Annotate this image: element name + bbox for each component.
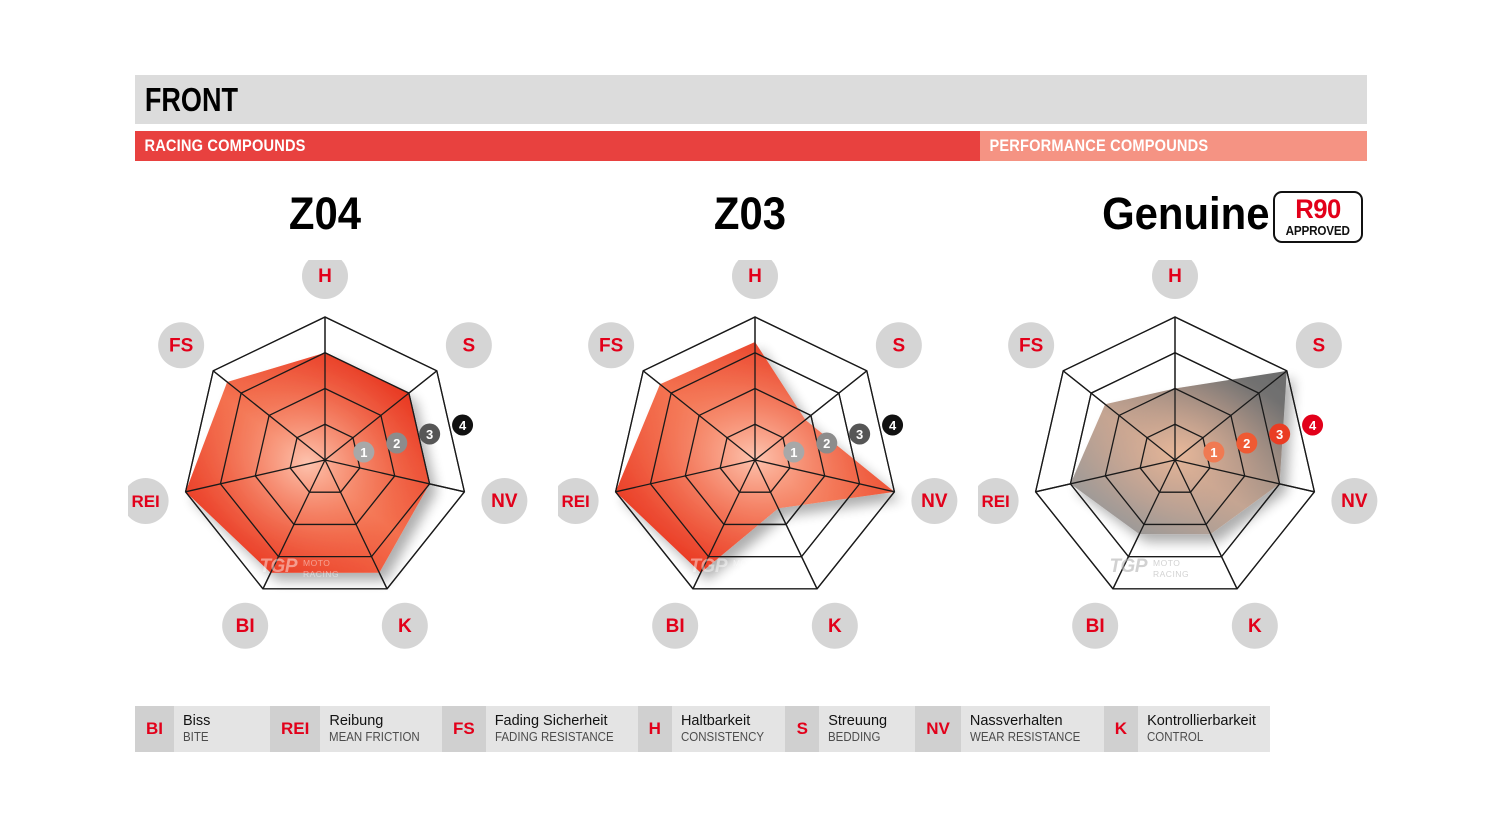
axis-label-FS: FS	[169, 335, 193, 356]
tgp-watermark: TGPMOTORACING	[689, 556, 769, 579]
radar-chart-z03: TGPMOTORACING1234HSNVKBIREIFS	[558, 260, 958, 660]
radar-data-area	[1070, 371, 1286, 534]
axis-label-H: H	[318, 266, 332, 287]
ring-badge-label: 1	[790, 445, 797, 460]
legend-item: NVNassverhaltenWEAR RESISTANCE	[915, 706, 1104, 752]
legend-label-de: Kontrollierbarkeit	[1147, 713, 1256, 729]
legend-label-en: WEAR RESISTANCE	[970, 730, 1080, 745]
legend-item: REIReibungMEAN FRICTION	[270, 706, 442, 752]
ring-badge-label: 4	[889, 418, 897, 433]
ring-badge-label: 4	[1309, 418, 1317, 433]
axis-label-H: H	[748, 266, 762, 287]
chart-title-z04: Z04	[186, 188, 465, 240]
legend-code-nv: NV	[915, 706, 961, 752]
legend-text-block: HaltbarkeitCONSISTENCY	[672, 706, 785, 752]
ring-badge-label: 2	[1243, 436, 1250, 451]
ring-badge-label: 2	[823, 436, 830, 451]
radar-grid-overlay	[616, 317, 895, 589]
legend-code-bi: BI	[135, 706, 174, 752]
axis-label-REI: REI	[981, 492, 1009, 511]
legend-text-block: NassverhaltenWEAR RESISTANCE	[961, 706, 1104, 752]
legend-code-s: S	[785, 706, 819, 752]
legend-label-en: CONTROL	[1147, 730, 1247, 745]
legend-label-en: CONSISTENCY	[681, 730, 764, 745]
svg-text:MOTO: MOTO	[303, 558, 330, 568]
legend-item: FSFading SicherheitFADING RESISTANCE	[442, 706, 638, 752]
axis-label-S: S	[1313, 335, 1326, 356]
radar-chart-z04: TGPMOTORACING1234HSNVKBIREIFS	[128, 260, 528, 660]
racing-compounds-label: RACING COMPOUNDS	[135, 136, 306, 156]
infographic-root: FRONT RACING COMPOUNDS PERFORMANCE COMPO…	[0, 0, 1500, 820]
legend-code-k: K	[1104, 706, 1138, 752]
compound-header-bar: RACING COMPOUNDS PERFORMANCE COMPOUNDS	[135, 131, 1367, 161]
legend-code-fs: FS	[442, 706, 486, 752]
svg-text:RACING: RACING	[303, 569, 339, 579]
axis-label-FS: FS	[599, 335, 623, 356]
axis-label-NV: NV	[1341, 491, 1368, 512]
ring-badge-label: 3	[856, 427, 863, 442]
legend-text-block: StreuungBEDDING	[819, 706, 915, 752]
svg-text:TGP: TGP	[689, 556, 727, 577]
legend-label-en: BITE	[183, 730, 250, 745]
axis-label-NV: NV	[491, 491, 518, 512]
svg-text:MOTO: MOTO	[1153, 558, 1180, 568]
axis-label-K: K	[1248, 616, 1262, 637]
legend-label-de: Haltbarkeit	[681, 713, 771, 729]
legend-text-block: BissBITE	[174, 706, 270, 752]
legend-item: BIBissBITE	[135, 706, 270, 752]
performance-compounds-band: PERFORMANCE COMPOUNDS	[980, 131, 1367, 161]
legend-label-de: Streuung	[828, 713, 901, 729]
radar-grid-overlay	[1036, 317, 1315, 589]
approved-label: APPROVED	[1286, 224, 1350, 237]
svg-text:RACING: RACING	[733, 569, 769, 579]
r90-approved-badge: R90 APPROVED	[1273, 191, 1363, 243]
legend-label-de: Fading Sicherheit	[495, 713, 624, 729]
axis-label-S: S	[893, 335, 906, 356]
tgp-watermark: TGPMOTORACING	[1109, 556, 1189, 579]
legend-label-en: BEDDING	[828, 730, 895, 745]
legend-item: SStreuungBEDDING	[785, 706, 915, 752]
ring-badge-label: 1	[1210, 445, 1217, 460]
legend-label-en: FADING RESISTANCE	[495, 730, 614, 745]
ring-badge-label: 1	[360, 445, 367, 460]
ring-badge-label: 3	[426, 427, 433, 442]
svg-text:TGP: TGP	[1109, 556, 1147, 577]
legend-label-en: MEAN FRICTION	[329, 730, 420, 745]
position-title: FRONT	[135, 81, 238, 119]
svg-text:MOTO: MOTO	[733, 558, 760, 568]
legend-text-block: Fading SicherheitFADING RESISTANCE	[486, 706, 638, 752]
axis-label-NV: NV	[921, 491, 948, 512]
svg-text:RACING: RACING	[1153, 569, 1189, 579]
svg-text:TGP: TGP	[259, 556, 297, 577]
axis-label-BI: BI	[236, 616, 255, 637]
legend-code-rei: REI	[270, 706, 320, 752]
axis-label-FS: FS	[1019, 335, 1043, 356]
ring-badge-label: 3	[1276, 427, 1283, 442]
ring-badge-label: 2	[393, 436, 400, 451]
legend-label-de: Reibung	[329, 713, 428, 729]
ring-badge-label: 4	[459, 418, 467, 433]
axis-label-BI: BI	[666, 616, 685, 637]
chart-title-genuine: Genuine	[991, 188, 1270, 240]
legend-item: HHaltbarkeitCONSISTENCY	[638, 706, 786, 752]
axis-label-REI: REI	[561, 492, 589, 511]
legend-text-block: KontrollierbarkeitCONTROL	[1138, 706, 1270, 752]
axis-label-REI: REI	[131, 492, 159, 511]
legend-label-de: Nassverhalten	[970, 713, 1090, 729]
chart-title-z03: Z03	[611, 188, 890, 240]
axis-label-S: S	[463, 335, 476, 356]
performance-compounds-label: PERFORMANCE COMPOUNDS	[980, 136, 1208, 156]
legend-text-block: ReibungMEAN FRICTION	[320, 706, 442, 752]
legend-bar: BIBissBITEREIReibungMEAN FRICTIONFSFadin…	[135, 706, 1270, 752]
legend-item: KKontrollierbarkeitCONTROL	[1104, 706, 1270, 752]
radar-chart-genuine: TGPMOTORACING1234HSNVKBIREIFS	[978, 260, 1378, 660]
axis-label-K: K	[828, 616, 842, 637]
front-header-bar: FRONT	[135, 75, 1367, 124]
axis-label-BI: BI	[1086, 616, 1105, 637]
r90-label: R90	[1295, 196, 1341, 223]
legend-label-de: Biss	[183, 713, 256, 729]
axis-label-K: K	[398, 616, 412, 637]
racing-compounds-band: RACING COMPOUNDS	[135, 131, 980, 161]
axis-label-H: H	[1168, 266, 1182, 287]
legend-code-h: H	[638, 706, 672, 752]
